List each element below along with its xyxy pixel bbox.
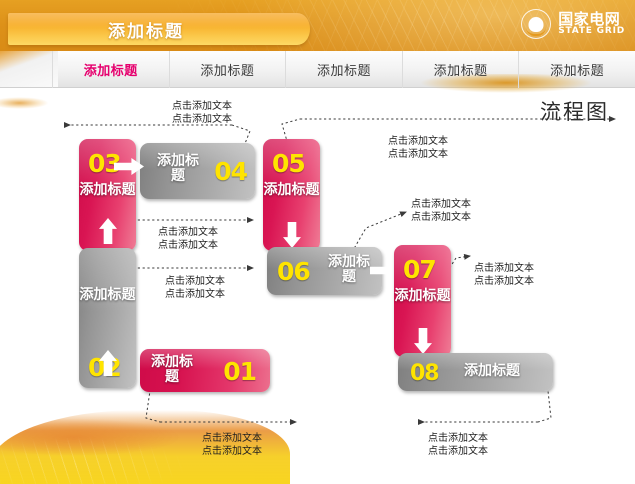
tab-3-label: 添加标题 <box>317 60 371 79</box>
note-top-left-line1: 点击添加文本 <box>172 100 232 113</box>
brand-logo: 国家电网 STATE GRID <box>521 9 625 39</box>
tab-4-label: 添加标题 <box>434 60 488 79</box>
decor-brush-top-left <box>0 92 70 114</box>
section-title: 流程图 <box>540 96 609 126</box>
tab-2[interactable]: 添加标题 <box>169 51 286 88</box>
note-mid-left-1-line1: 点击添加文本 <box>158 226 218 239</box>
tab-2-label: 添加标题 <box>200 60 254 79</box>
flow-card-01-number: 01 <box>223 357 256 386</box>
slide-header: 添加标题 国家电网 STATE GRID <box>0 0 635 51</box>
note-mid-left-1-line2: 点击添加文本 <box>158 239 218 252</box>
note-right-07-line1: 点击添加文本 <box>474 262 534 275</box>
note-mid-right-line2: 点击添加文本 <box>411 211 471 224</box>
tab-1-label: 添加标题 <box>84 60 138 79</box>
flow-card-02-label: 添加标题 <box>79 288 136 303</box>
flow-card-06[interactable]: 06 添加标题 <box>267 247 382 295</box>
note-bottom-right: 点击添加文本 点击添加文本 <box>428 432 488 458</box>
tab-4[interactable]: 添加标题 <box>402 51 519 88</box>
flow-card-07-label: 添加标题 <box>394 289 451 304</box>
flow-card-08[interactable]: 08 添加标题 <box>398 353 553 391</box>
flow-card-06-label: 添加标题 <box>325 255 373 284</box>
note-top-right-line1: 点击添加文本 <box>388 135 448 148</box>
note-bottom-left-line1: 点击添加文本 <box>202 432 262 445</box>
note-mid-left-2-line2: 点击添加文本 <box>165 288 225 301</box>
note-top-left-line2: 点击添加文本 <box>172 113 232 126</box>
note-top-right: 点击添加文本 点击添加文本 <box>388 135 448 161</box>
flow-card-06-number: 06 <box>277 257 310 286</box>
page-title: 添加标题 <box>8 17 284 42</box>
note-right-07-line2: 点击添加文本 <box>474 275 534 288</box>
flow-card-07-number: 07 <box>403 255 436 284</box>
note-mid-right: 点击添加文本 点击添加文本 <box>411 198 471 224</box>
slide-canvas: 添加标题 国家电网 STATE GRID 添加标题 添加标题 添加标题 添加标题… <box>0 0 635 484</box>
flow-card-05-number: 05 <box>272 149 305 178</box>
note-top-left: 点击添加文本 点击添加文本 <box>172 100 232 126</box>
brand-logo-text: 国家电网 STATE GRID <box>558 12 625 36</box>
note-top-right-line2: 点击添加文本 <box>388 148 448 161</box>
note-mid-left-2-line1: 点击添加文本 <box>165 275 225 288</box>
note-bottom-right-line2: 点击添加文本 <box>428 445 488 458</box>
header-title-plaque: 添加标题 <box>8 13 310 45</box>
state-grid-logo-icon <box>521 9 551 39</box>
tab-5-label: 添加标题 <box>550 60 604 79</box>
brand-name-en: STATE GRID <box>558 27 625 36</box>
flow-card-01[interactable]: 添加标题 01 <box>140 349 270 392</box>
tab-5[interactable]: 添加标题 <box>518 51 635 88</box>
note-mid-right-line1: 点击添加文本 <box>411 198 471 211</box>
flow-card-03-label: 添加标题 <box>79 183 136 198</box>
note-bottom-left-line2: 点击添加文本 <box>202 445 262 458</box>
flow-card-01-label: 添加标题 <box>148 355 196 384</box>
flow-card-04-label: 添加标题 <box>154 154 202 183</box>
flow-card-05-label: 添加标题 <box>263 183 320 198</box>
note-right-07: 点击添加文本 点击添加文本 <box>474 262 534 288</box>
tab-1[interactable]: 添加标题 <box>52 51 169 88</box>
tab-bar: 添加标题 添加标题 添加标题 添加标题 添加标题 <box>0 51 635 88</box>
flow-card-08-label: 添加标题 <box>464 364 520 379</box>
note-mid-left-1: 点击添加文本 点击添加文本 <box>158 226 218 252</box>
tab-3[interactable]: 添加标题 <box>285 51 402 88</box>
flow-card-08-number: 08 <box>410 361 439 386</box>
note-mid-left-2: 点击添加文本 点击添加文本 <box>165 275 225 301</box>
note-bottom-right-line1: 点击添加文本 <box>428 432 488 445</box>
brand-name-cn: 国家电网 <box>558 12 625 27</box>
tab-bar-left-cap <box>0 51 52 87</box>
flow-card-04-number: 04 <box>214 157 247 186</box>
note-bottom-left: 点击添加文本 点击添加文本 <box>202 432 262 458</box>
flow-card-04[interactable]: 04 添加标题 <box>140 143 255 199</box>
